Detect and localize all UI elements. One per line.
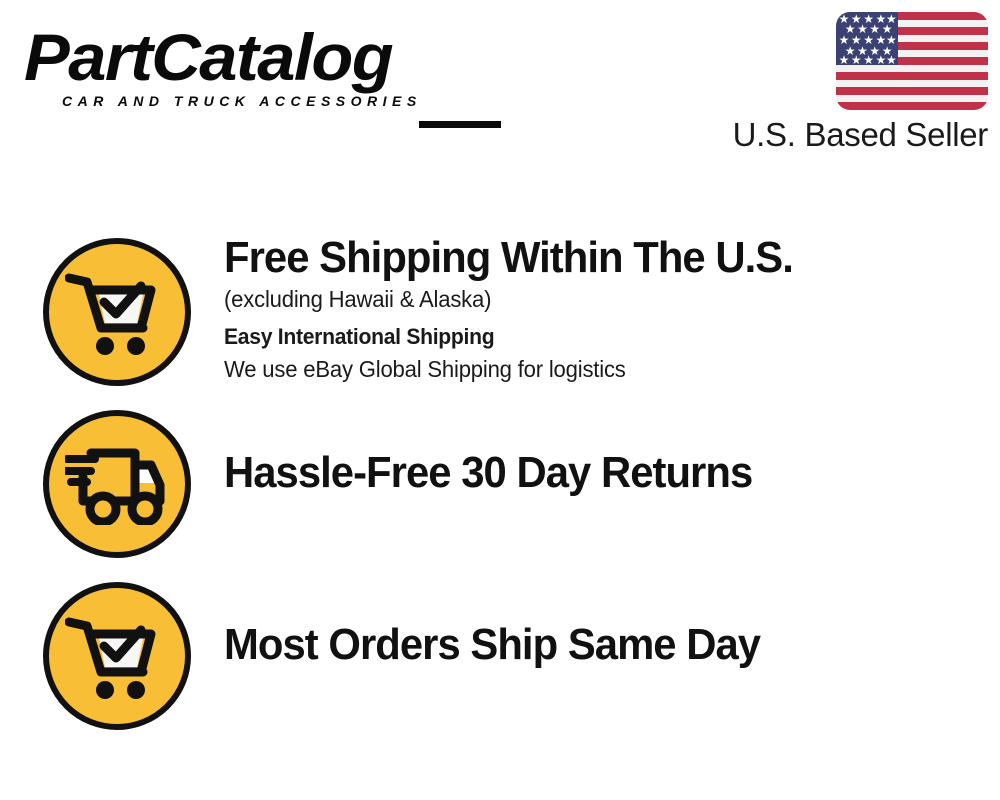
us-based-seller-badge: ★ ★ ★ ★ ★ ★ ★ ★ ★ ★ ★ ★ ★ ★ ★ ★ ★ <box>733 12 988 152</box>
banner-header: PartCatalog CAR AND TRUCK ACCESSORIES <box>0 0 1000 175</box>
flag-stripe <box>836 102 988 110</box>
brand-tagline: CAR AND TRUCK ACCESSORIES <box>62 93 494 109</box>
promo-banner: PartCatalog CAR AND TRUCK ACCESSORIES <box>0 0 1000 800</box>
brand-wordmark: PartCatalog <box>24 22 513 92</box>
delivery-truck-icon <box>43 410 191 558</box>
feature-subline: (excluding Hawaii & Alaska) <box>224 283 969 315</box>
brand-logo: PartCatalog CAR AND TRUCK ACCESSORIES <box>24 22 494 109</box>
feature-subline: We use eBay Global Shipping for logistic… <box>224 353 969 385</box>
shopping-cart-check-icon <box>43 582 191 730</box>
flag-stripe <box>836 87 988 95</box>
feature-row: Free Shipping Within The U.S. (excluding… <box>0 232 1000 404</box>
logo-underline-rule <box>419 121 501 128</box>
flag-canton: ★ ★ ★ ★ ★ ★ ★ ★ ★ ★ ★ ★ ★ ★ ★ ★ ★ <box>836 12 898 65</box>
feature-text-block: Most Orders Ship Same Day <box>191 576 1000 670</box>
feature-text-block: Hassle-Free 30 Day Returns <box>191 404 1000 498</box>
feature-list: Free Shipping Within The U.S. (excluding… <box>0 232 1000 748</box>
feature-headline: Most Orders Ship Same Day <box>224 620 961 670</box>
shopping-cart-check-icon <box>43 238 191 386</box>
flag-stripe <box>836 72 988 80</box>
feature-headline: Free Shipping Within The U.S. <box>224 233 961 283</box>
feature-row: Most Orders Ship Same Day <box>0 576 1000 748</box>
us-based-seller-label: U.S. Based Seller <box>733 118 988 152</box>
us-flag-icon: ★ ★ ★ ★ ★ ★ ★ ★ ★ ★ ★ ★ ★ ★ ★ ★ ★ <box>836 12 988 110</box>
feature-headline: Hassle-Free 30 Day Returns <box>224 448 961 498</box>
feature-text-block: Free Shipping Within The U.S. (excluding… <box>191 232 1000 385</box>
feature-row: Hassle-Free 30 Day Returns <box>0 404 1000 576</box>
feature-subline-emphasis: Easy International Shipping <box>224 320 969 353</box>
flag-stripe <box>836 80 988 88</box>
flag-stripe <box>836 95 988 103</box>
